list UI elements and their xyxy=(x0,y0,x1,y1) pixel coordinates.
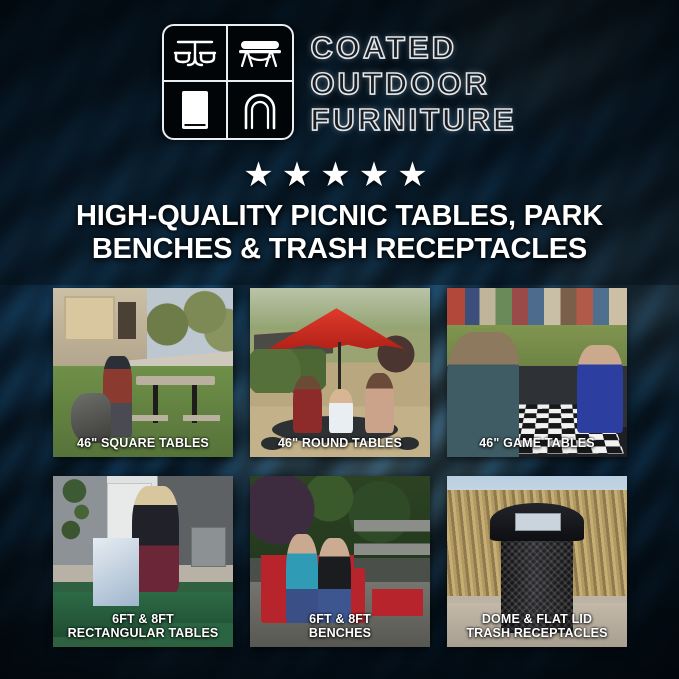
tile-caption: 6FT & 8FT RECTANGULAR TABLES xyxy=(53,612,233,640)
tile-round-tables[interactable]: 46" ROUND TABLES xyxy=(250,288,430,457)
park-bench-icon xyxy=(228,26,292,82)
tile-caption-line-1: 46" GAME TABLES xyxy=(451,436,623,450)
brand-logo-mark xyxy=(162,24,294,140)
brand-wordmark: COATED OUTDOOR FURNITURE xyxy=(310,28,516,137)
brand-logo-row: COATED OUTDOOR FURNITURE xyxy=(0,24,679,140)
star-icon-1: ★ xyxy=(243,158,281,192)
star-rating: ★★★★★ xyxy=(0,158,679,192)
star-icon-3: ★ xyxy=(320,158,358,192)
tile-caption: 46" SQUARE TABLES xyxy=(53,436,233,450)
tile-caption-line-2: BENCHES xyxy=(254,626,426,640)
tile-caption: DOME & FLAT LID TRASH RECEPTACLES xyxy=(447,612,627,640)
trash-receptacle-icon xyxy=(164,82,228,138)
wordmark-line-furniture: FURNITURE xyxy=(310,102,516,137)
tile-caption: 46" ROUND TABLES xyxy=(250,436,430,450)
headline-line-1: HIGH-QUALITY PICNIC TABLES, PARK xyxy=(30,200,649,233)
banner-stage: COATED OUTDOOR FURNITURE ★★★★★ HIGH-QUAL… xyxy=(0,0,679,679)
tile-square-tables[interactable]: 46" SQUARE TABLES xyxy=(53,288,233,457)
wordmark-line-outdoor: OUTDOOR xyxy=(310,66,516,101)
tile-caption-line-2: TRASH RECEPTACLES xyxy=(451,626,623,640)
tile-caption-line-1: 6FT & 8FT xyxy=(254,612,426,626)
tile-game-tables[interactable]: 46" GAME TABLES xyxy=(447,288,627,457)
wordmark-line-coated: COATED xyxy=(310,30,516,65)
bike-rack-icon xyxy=(228,82,292,138)
tile-caption: 6FT & 8FT BENCHES xyxy=(250,612,430,640)
tile-caption-line-1: DOME & FLAT LID xyxy=(451,612,623,626)
headline: HIGH-QUALITY PICNIC TABLES, PARK BENCHES… xyxy=(30,200,649,266)
tile-caption-line-2: RECTANGULAR TABLES xyxy=(57,626,229,640)
photo-round-tables xyxy=(250,288,430,457)
product-tile-grid: 46" SQUARE TABLES 46" ROUND TABLES xyxy=(53,288,627,647)
tile-caption-line-1: 46" ROUND TABLES xyxy=(254,436,426,450)
star-icon-4: ★ xyxy=(359,158,397,192)
tile-trash-receptacles[interactable]: DOME & FLAT LID TRASH RECEPTACLES xyxy=(447,476,627,647)
tile-caption-line-1: 6FT & 8FT xyxy=(57,612,229,626)
star-icon-2: ★ xyxy=(282,158,320,192)
headline-line-2: BENCHES & TRASH RECEPTACLES xyxy=(30,233,649,266)
tile-benches[interactable]: 6FT & 8FT BENCHES xyxy=(250,476,430,647)
tile-rectangular-tables[interactable]: 6FT & 8FT RECTANGULAR TABLES xyxy=(53,476,233,647)
banner-content: COATED OUTDOOR FURNITURE ★★★★★ HIGH-QUAL… xyxy=(0,0,679,679)
picnic-table-icon xyxy=(164,26,228,82)
photo-square-tables xyxy=(53,288,233,457)
star-icon-5: ★ xyxy=(397,158,435,192)
tile-caption-line-1: 46" SQUARE TABLES xyxy=(57,436,229,450)
tile-caption: 46" GAME TABLES xyxy=(447,436,627,450)
photo-game-tables xyxy=(447,288,627,457)
